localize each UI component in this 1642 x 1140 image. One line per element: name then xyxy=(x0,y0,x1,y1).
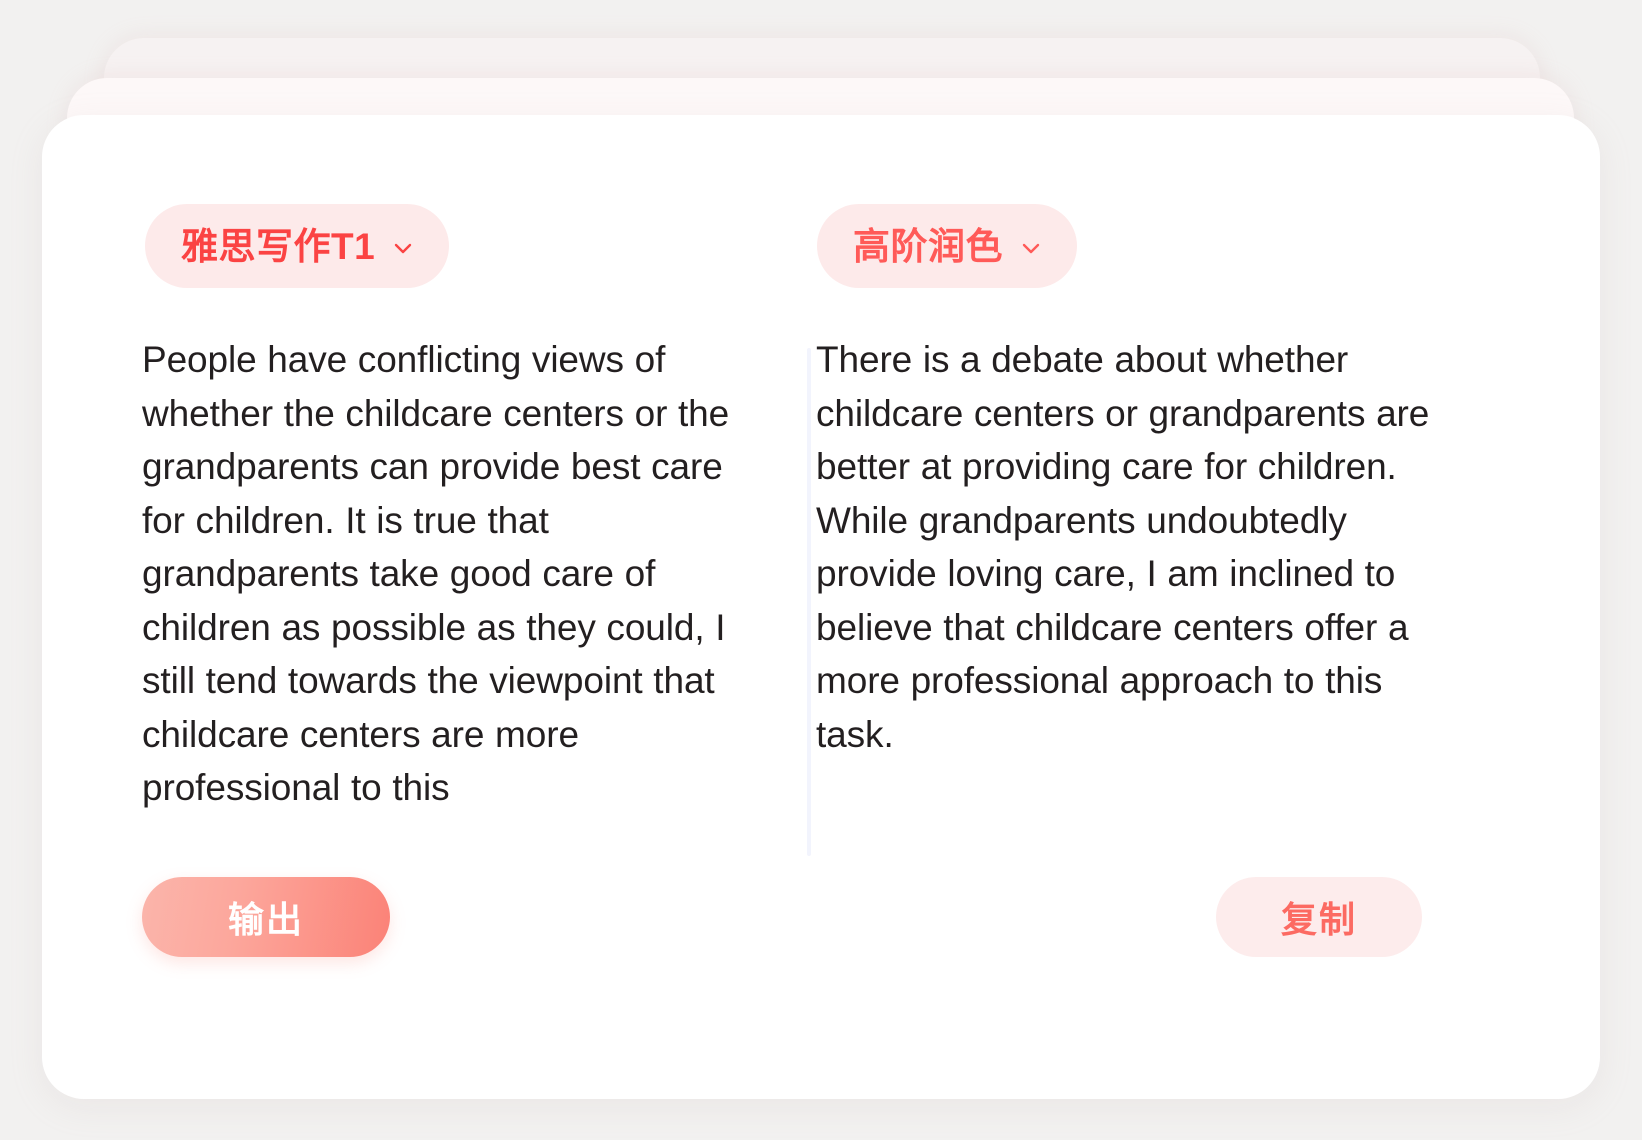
copy-button-label: 复制 xyxy=(1281,891,1357,943)
main-card: 雅思写作T1 高阶润色 People have conflicting view… xyxy=(42,115,1600,1099)
result-text-column: There is a debate about whether childcar… xyxy=(816,333,1436,761)
text-columns: People have conflicting views of whether… xyxy=(42,333,1600,853)
polish-level-selector[interactable]: 高阶润色 xyxy=(817,204,1077,288)
task-type-selector-label: 雅思写作T1 xyxy=(181,228,375,265)
column-divider xyxy=(807,348,811,856)
chevron-down-icon xyxy=(391,236,415,260)
source-text-column: People have conflicting views of whether… xyxy=(142,333,762,815)
result-text[interactable]: There is a debate about whether childcar… xyxy=(816,333,1436,761)
output-button-label: 输出 xyxy=(228,891,304,943)
copy-button[interactable]: 复制 xyxy=(1216,877,1422,957)
source-text[interactable]: People have conflicting views of whether… xyxy=(142,333,767,815)
card-stack: 雅思写作T1 高阶润色 People have conflicting view… xyxy=(0,0,1642,1140)
polish-level-selector-label: 高阶润色 xyxy=(853,228,1003,265)
chevron-down-icon xyxy=(1019,236,1043,260)
output-button[interactable]: 输出 xyxy=(142,877,390,957)
task-type-selector[interactable]: 雅思写作T1 xyxy=(145,204,449,288)
